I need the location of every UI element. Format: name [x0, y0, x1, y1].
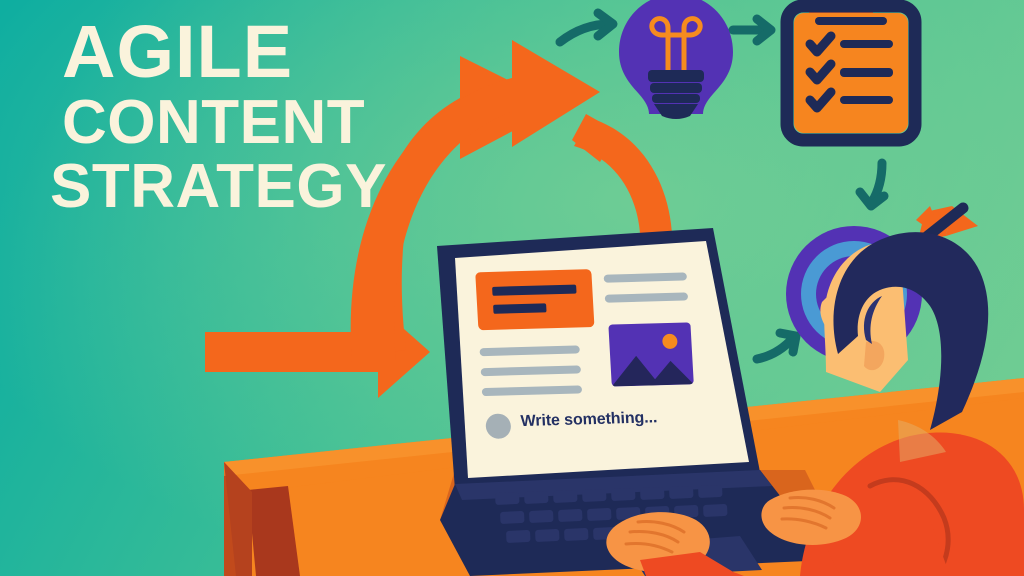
poster-canvas: AGILE CONTENT STRATEGY — [0, 0, 1024, 576]
person-typing — [0, 0, 1024, 576]
